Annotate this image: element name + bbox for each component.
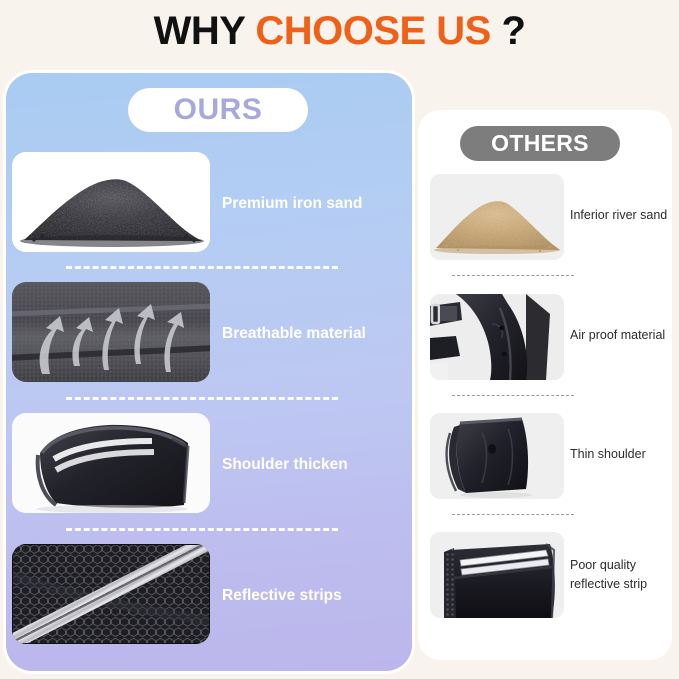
ours-separator-1 — [66, 266, 338, 269]
others-image-air-proof-material — [430, 294, 564, 380]
ours-image-premium-iron-sand — [12, 152, 210, 252]
others-image-poor-reflective-strip — [430, 532, 564, 618]
others-label-inferior-river-sand: Inferior river sand — [570, 206, 674, 225]
others-label-air-proof-material: Air proof material — [570, 326, 674, 345]
ours-separator-3 — [66, 528, 338, 531]
others-separator-1 — [452, 275, 574, 276]
others-image-thin-shoulder — [430, 413, 564, 499]
others-separator-3 — [452, 514, 574, 515]
ours-badge-label: OURS — [174, 95, 263, 125]
others-label-thin-shoulder: Thin shoulder — [570, 445, 674, 464]
others-panel: OTHERS Inferior river sand — [418, 110, 672, 660]
ours-separator-2 — [66, 397, 338, 400]
others-separator-2 — [452, 395, 574, 396]
breathable-mesh-fabric-airflow-arrows-photo — [12, 282, 210, 382]
ours-image-reflective-strips — [12, 544, 210, 644]
ours-label-breathable-material: Breathable material — [222, 325, 410, 344]
honeycomb-mesh-reflective-strip-photo — [12, 544, 210, 644]
thin-shoulder-strap-photo — [430, 413, 564, 499]
others-badge: OTHERS — [460, 126, 620, 161]
ours-image-breathable-material — [12, 282, 210, 382]
others-badge-label: OTHERS — [491, 132, 589, 155]
poor-reflective-strip-photo — [430, 532, 564, 618]
thick-padded-shoulder-strap-photo — [12, 413, 210, 513]
ours-label-shoulder-thicken: Shoulder thicken — [222, 456, 410, 475]
airproof-strap-buckle-photo — [430, 294, 564, 380]
page-title-part-why: WHY — [154, 9, 256, 53]
page-title-part-question: ? — [491, 9, 526, 53]
ours-image-shoulder-thicken — [12, 413, 210, 513]
others-label-poor-reflective-strip: Poor quality reflective strip — [570, 556, 674, 595]
others-image-inferior-river-sand — [430, 174, 564, 260]
ours-label-reflective-strips: Reflective strips — [222, 587, 410, 606]
black-iron-sand-pile-photo — [12, 152, 210, 252]
ours-badge: OURS — [128, 88, 308, 132]
tan-river-sand-pile-photo — [430, 174, 564, 260]
page-title: WHY CHOOSE US ? — [154, 11, 526, 51]
page-header: WHY CHOOSE US ? — [0, 0, 679, 62]
ours-panel: OURS Premium iron sand — [6, 73, 412, 671]
page-title-part-choose-us: CHOOSE US — [255, 9, 491, 53]
ours-label-premium-iron-sand: Premium iron sand — [222, 195, 410, 214]
